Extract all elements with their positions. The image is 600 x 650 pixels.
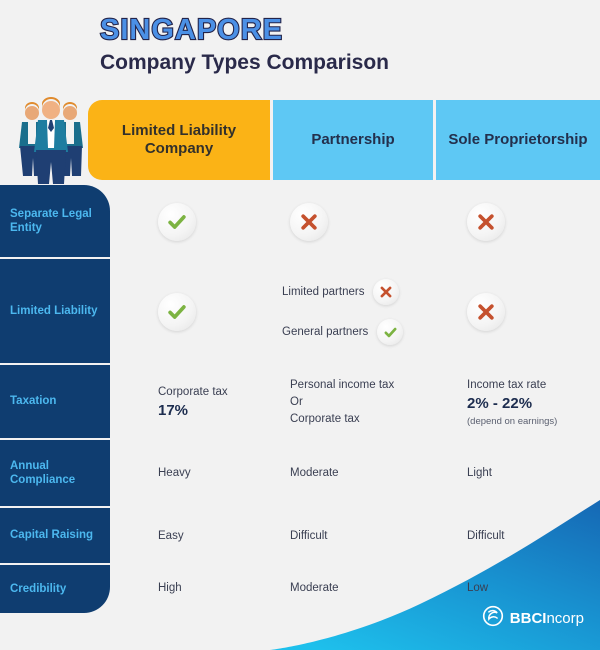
cross-icon: [290, 203, 328, 241]
page-title: Company Types Comparison: [100, 52, 389, 73]
cell-compliance-partnership: Moderate: [290, 440, 450, 508]
compliance-llc-value: Heavy: [158, 465, 298, 482]
check-icon: [158, 203, 196, 241]
general-partners-label: General partners: [282, 326, 368, 338]
credibility-partnership-value: Moderate: [290, 580, 450, 597]
tax-partnership-line2: Or: [290, 394, 450, 411]
capital-partnership-value: Difficult: [290, 528, 450, 545]
criterion-taxation[interactable]: Taxation: [0, 365, 110, 440]
general-partners-row: General partners: [282, 319, 462, 345]
cell-compliance-sole: Light: [467, 440, 600, 508]
credibility-llc-value: High: [158, 580, 298, 597]
cell-credibility-llc: High: [158, 565, 298, 613]
bbcincorp-swirl-icon: [482, 605, 504, 632]
page-title-country: SINGAPORE: [100, 16, 389, 45]
cell-tax-llc: Corporate tax 17%: [158, 365, 298, 440]
column-header-partnership[interactable]: Partnership: [273, 100, 433, 180]
infographic-canvas: SINGAPORE Company Types Comparison: [0, 0, 600, 650]
column-header-llc[interactable]: Limited Liability Company: [88, 100, 270, 180]
bbcincorp-logo[interactable]: BBCIncorp: [482, 605, 584, 632]
three-business-people-icon: [14, 96, 88, 184]
criterion-separate-legal-entity[interactable]: Separate Legal Entity: [0, 185, 110, 259]
criterion-limited-liability[interactable]: Limited Liability: [0, 259, 110, 365]
tax-sole-note: (depend on earnings): [467, 415, 600, 428]
table-row: Limited partners General partners: [110, 259, 600, 365]
cell-capital-sole: Difficult: [467, 508, 600, 565]
cell-capital-llc: Easy: [158, 508, 298, 565]
tax-sole-label: Income tax rate: [467, 377, 600, 394]
cell-tax-sole: Income tax rate 2% - 22% (depend on earn…: [467, 365, 600, 440]
cross-icon: [467, 293, 505, 331]
title-block: SINGAPORE Company Types Comparison: [100, 16, 389, 73]
cell-capital-partnership: Difficult: [290, 508, 450, 565]
column-header-sole-proprietorship[interactable]: Sole Proprietorship: [436, 100, 600, 180]
criterion-credibility[interactable]: Credibility: [0, 565, 110, 613]
table-row: Corporate tax 17% Personal income tax Or…: [110, 365, 600, 440]
cell-sle-partnership: [290, 185, 450, 259]
compliance-partnership-value: Moderate: [290, 465, 450, 482]
cell-ll-llc: [158, 259, 248, 365]
cell-sle-sole: [467, 185, 600, 259]
column-header-tabs: Limited Liability Company Partnership So…: [88, 100, 600, 180]
tax-sole-value: 2% - 22%: [467, 394, 600, 414]
check-icon: [158, 293, 196, 331]
limited-partners-row: Limited partners: [282, 279, 462, 305]
cell-tax-partnership: Personal income tax Or Corporate tax: [290, 365, 450, 440]
tax-partnership-line3: Corporate tax: [290, 411, 450, 428]
check-icon: [377, 319, 403, 345]
criteria-sidebar: Separate Legal Entity Limited Liability …: [0, 185, 110, 613]
criterion-annual-compliance[interactable]: Annual Compliance: [0, 440, 110, 508]
tax-llc-label: Corporate tax: [158, 384, 298, 401]
criterion-capital-raising[interactable]: Capital Raising: [0, 508, 110, 565]
cell-credibility-partnership: Moderate: [290, 565, 450, 613]
logo-light-text: ncorp: [546, 610, 584, 627]
capital-sole-value: Difficult: [467, 528, 600, 545]
bbcincorp-wordmark: BBCIncorp: [510, 611, 584, 626]
tax-llc-value: 17%: [158, 401, 298, 421]
comparison-rows: Limited partners General partners: [110, 185, 600, 613]
cell-sle-llc: [158, 185, 248, 259]
cell-compliance-llc: Heavy: [158, 440, 298, 508]
table-row: Easy Difficult Difficult: [110, 508, 600, 565]
cross-icon: [373, 279, 399, 305]
tax-partnership-line1: Personal income tax: [290, 377, 450, 394]
cell-ll-sole: [467, 259, 600, 365]
limited-partners-label: Limited partners: [282, 286, 364, 298]
table-row: [110, 185, 600, 259]
compliance-sole-value: Light: [467, 465, 600, 482]
credibility-sole-value: Low: [467, 580, 600, 597]
cell-ll-partnership: Limited partners General partners: [282, 259, 462, 365]
capital-llc-value: Easy: [158, 528, 298, 545]
cross-icon: [467, 203, 505, 241]
table-row: Heavy Moderate Light: [110, 440, 600, 508]
logo-bold-text: BBCI: [510, 610, 547, 627]
